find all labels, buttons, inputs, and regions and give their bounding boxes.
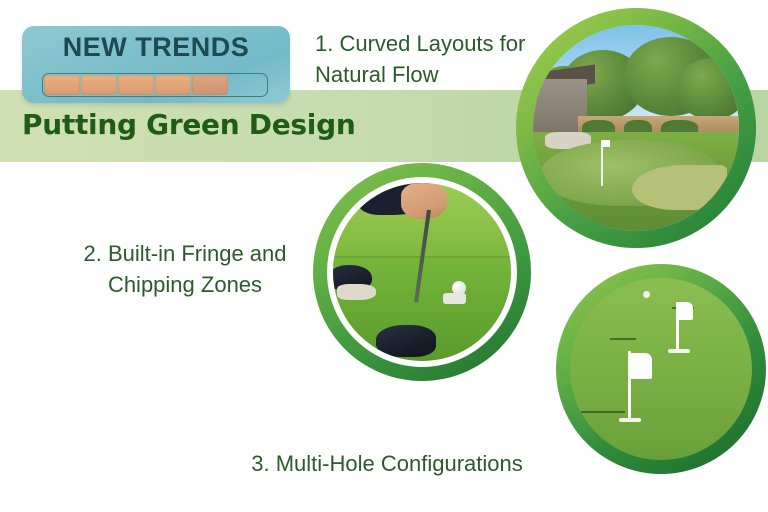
photo-circle-backyard-green <box>516 8 756 248</box>
photo-green-with-flags <box>570 278 752 460</box>
badge-segment-2 <box>81 75 117 95</box>
photo-circle-flags <box>556 264 766 474</box>
photo-backyard-putting-green <box>533 25 739 231</box>
scene-putter <box>333 183 511 361</box>
golf-ball-icon <box>643 291 650 298</box>
scene-backyard <box>533 25 739 231</box>
shadow-line <box>610 338 635 340</box>
tree-icon <box>677 58 739 120</box>
page-title: Putting Green Design <box>22 108 355 141</box>
shadow-line <box>581 411 625 413</box>
badge-progress-bar <box>42 73 268 97</box>
badge-title: NEW TRENDS <box>22 32 290 63</box>
golf-shoe-sole <box>337 284 376 300</box>
hole-cup <box>668 349 690 353</box>
photo-putter-and-shoes <box>333 183 511 361</box>
hole-cup <box>619 418 641 422</box>
flag-icon <box>630 353 652 379</box>
flag-icon <box>677 302 693 320</box>
list-item-3: 3. Multi-Hole Configurations <box>232 448 542 479</box>
photo-circle-putter <box>313 163 531 381</box>
badge-segment-5 <box>192 75 228 95</box>
putter-head <box>443 293 466 304</box>
green-apron <box>632 165 727 210</box>
golfer-hand <box>401 183 447 219</box>
golf-shoe <box>376 325 437 357</box>
list-item-1: 1. Curved Layouts for Natural Flow <box>315 28 545 90</box>
infographic-canvas: DESIGNS NEW TRENDS Putting Green Design … <box>0 0 768 512</box>
new-trends-badge: NEW TRENDS <box>22 26 290 103</box>
badge-segment-4 <box>155 75 191 95</box>
badge-segment-1 <box>44 75 80 95</box>
badge-segment-3 <box>118 75 154 95</box>
scene-flags <box>570 278 752 460</box>
list-item-2: 2. Built-in Fringe and Chipping Zones <box>70 238 300 300</box>
flag-icon <box>603 140 610 147</box>
